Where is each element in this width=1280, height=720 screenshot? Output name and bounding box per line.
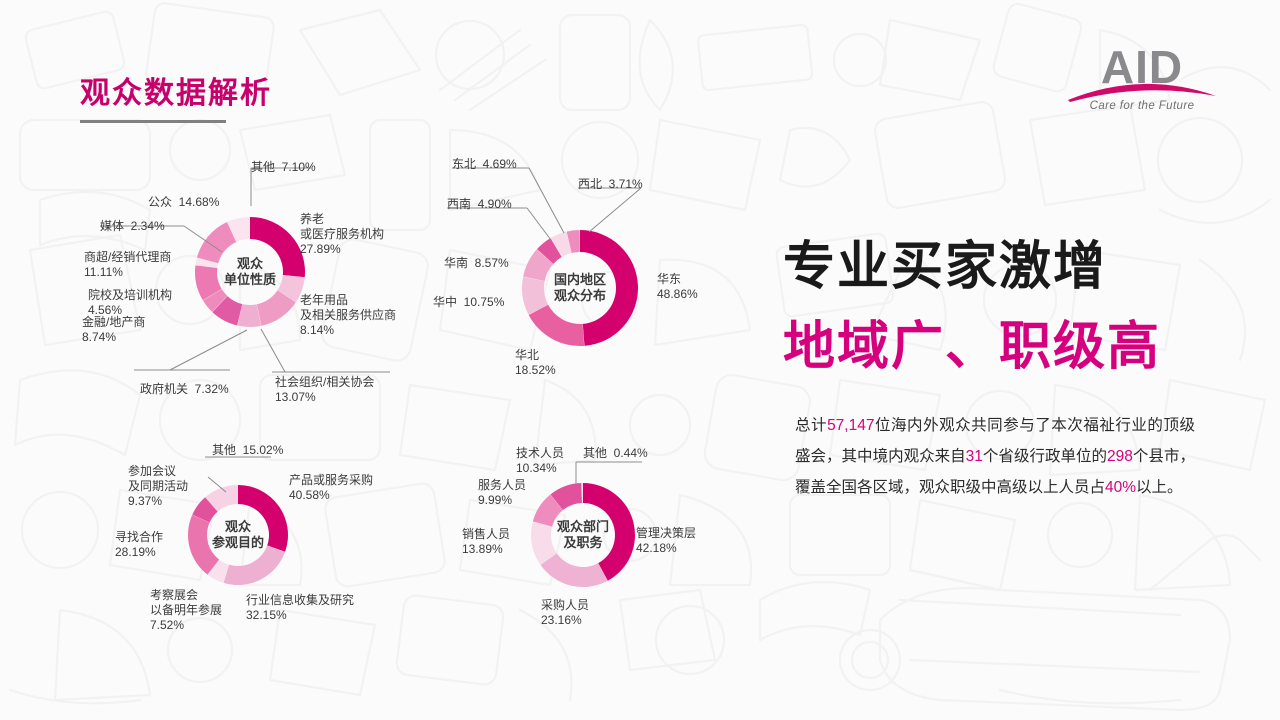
donut-slice[interactable] [531,522,557,565]
donut-label-line: 服务人员 [478,478,526,493]
donut-label-line: 42.18% [636,541,696,556]
donut-label-line: 技术人员 [516,446,564,461]
donut-label-line: 其他 0.44% [583,446,648,461]
paragraph-text-0: 总计 [795,417,827,434]
donut-label-department-4: 技术人员10.34% [516,446,564,476]
donut-label-department-3: 服务人员9.99% [478,478,526,508]
donut-label-department-5: 其他 0.44% [583,446,648,461]
headline-line-2: 地域广、职级高 [783,318,1161,376]
donut-center-title-line: 观众部门 [557,519,609,535]
paragraph-highlight-5: 298 [1107,448,1133,465]
donut-label-department-0: 管理决策层42.18% [636,526,696,556]
donut-center-title-department: 观众部门及职务 [557,519,609,551]
paragraph-highlight-3: 31 [966,448,983,465]
donut-label-line: 管理决策层 [636,526,696,541]
headline-line-1: 专业买家激增 [783,238,1107,296]
donut-label-line: 销售人员 [462,527,510,542]
donut-slice[interactable] [582,483,583,503]
donut-label-line: 13.89% [462,542,510,557]
donut-label-line: 10.34% [516,461,564,476]
slide-root: 观众数据解析 AID Care for the Future 观众单位性质养老或… [0,0,1280,720]
donut-label-line: 9.99% [478,493,526,508]
paragraph-text-4: 个省级行政单位的 [983,448,1107,465]
paragraph-highlight-1: 57,147 [827,417,874,434]
donut-label-line: 23.16% [541,613,589,628]
paragraph-text-8: 以上。 [1136,479,1183,496]
donut-label-line: 采购人员 [541,598,589,613]
donut-label-department-2: 销售人员13.89% [462,527,510,557]
summary-paragraph: 总计57,147位海内外观众共同参与了本次福祉行业的顶级盛会，其中境内观众来自3… [795,410,1195,503]
donut-label-department-1: 采购人员23.16% [541,598,589,628]
donut-center-title-line: 及职务 [557,535,609,551]
donut-slice[interactable] [540,553,607,587]
paragraph-highlight-7: 40% [1105,479,1136,496]
donut-slice[interactable] [550,483,582,510]
